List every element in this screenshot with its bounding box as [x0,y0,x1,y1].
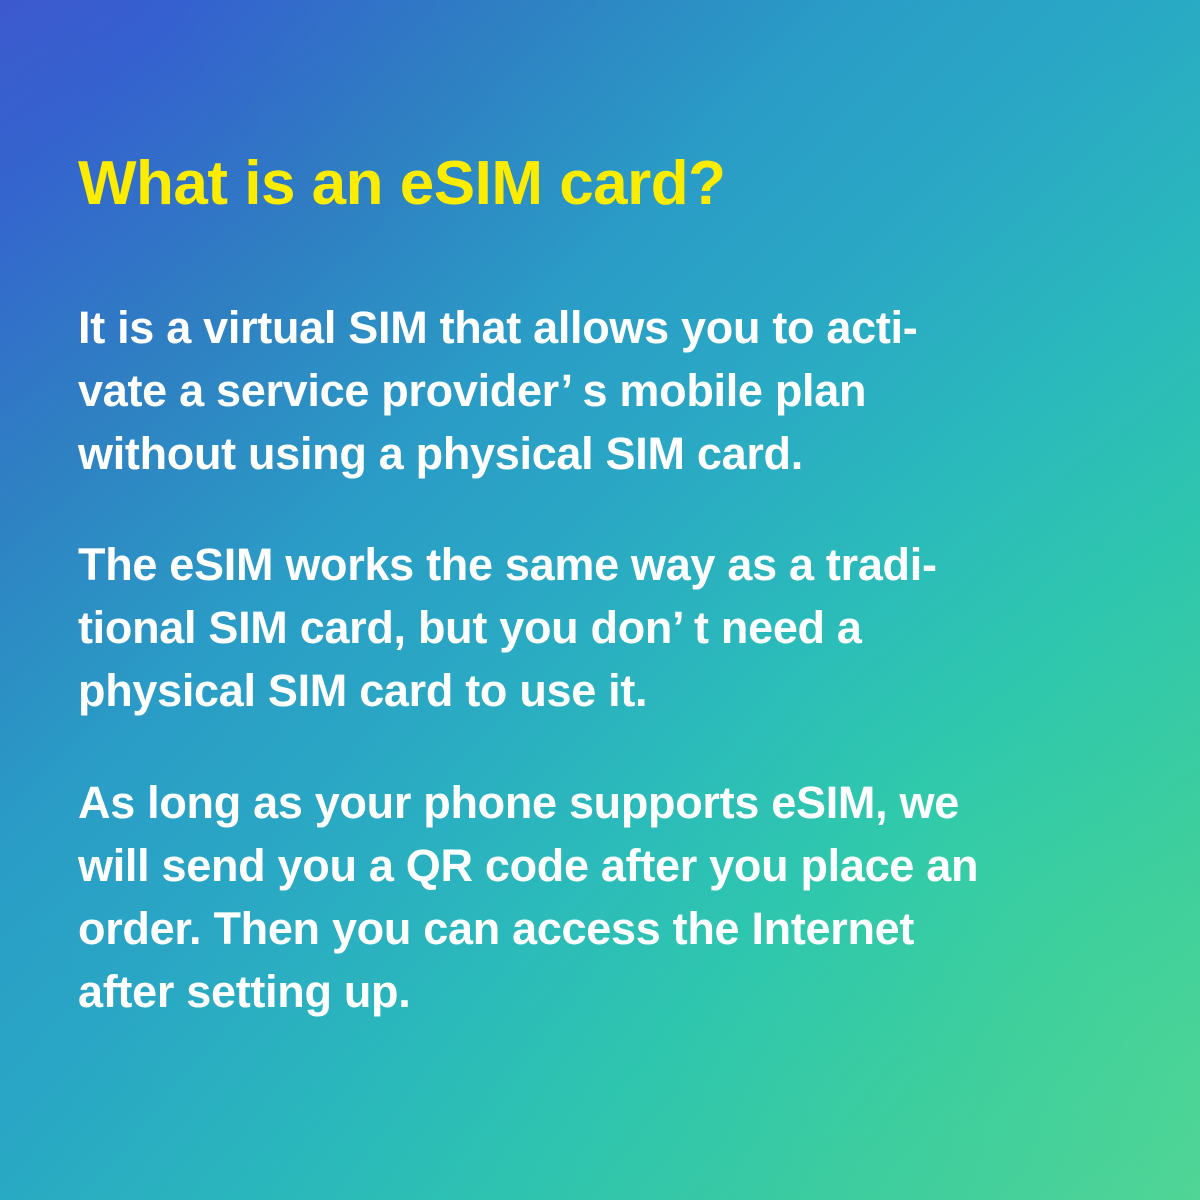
body-paragraph-2: The eSIM works the same way as a tradi- … [78,533,937,722]
body-paragraph-1: It is a virtual SIM that allows you to a… [78,296,917,485]
body-paragraph-3: As long as your phone supports eSIM, we … [78,771,978,1023]
esim-info-poster: What is an eSIM card? It is a virtual SI… [0,0,1200,1200]
poster-content: What is an eSIM card? It is a virtual SI… [78,0,1078,1200]
page-title: What is an eSIM card? [78,152,726,215]
